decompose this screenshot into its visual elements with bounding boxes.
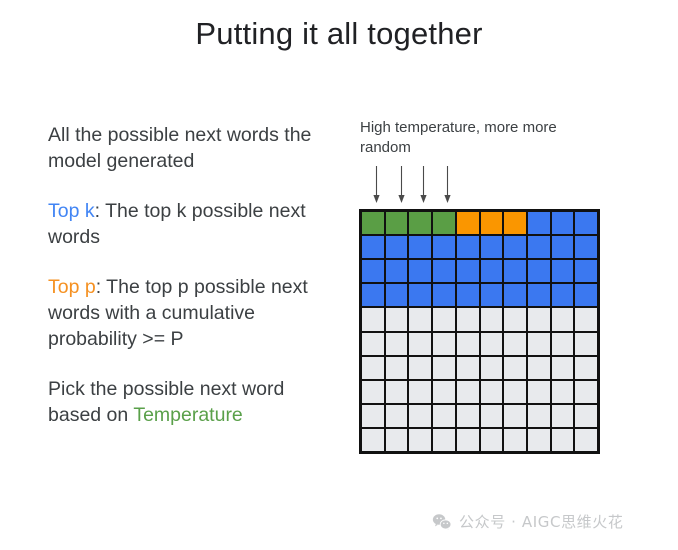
grid-cell [386, 236, 408, 258]
grid-cell [433, 405, 455, 427]
grid-cell [552, 236, 574, 258]
grid-cell [433, 212, 455, 234]
grid-cell [386, 405, 408, 427]
paragraph-top-k: Top k: The top k possible next words [48, 198, 333, 250]
grid-cell [362, 260, 384, 282]
grid-cell [504, 357, 526, 379]
grid-cell [575, 236, 597, 258]
grid-cell [481, 236, 503, 258]
grid-cell [457, 429, 479, 451]
grid-cell [362, 284, 384, 306]
grid-cell [481, 284, 503, 306]
grid-cell [481, 405, 503, 427]
grid-cell [575, 429, 597, 451]
grid-cell [409, 284, 431, 306]
grid-cell [575, 357, 597, 379]
grid-cell [433, 381, 455, 403]
grid-cell [481, 308, 503, 330]
grid-cell [433, 308, 455, 330]
paragraph-temperature: Pick the possible next word based on Tem… [48, 376, 333, 428]
grid-cell [386, 308, 408, 330]
grid-cell [409, 212, 431, 234]
grid-cell [552, 429, 574, 451]
grid-cell [481, 212, 503, 234]
grid-cell [386, 357, 408, 379]
grid-cell [386, 429, 408, 451]
grid-cell [362, 308, 384, 330]
grid-cell [528, 260, 550, 282]
grid-cell [504, 381, 526, 403]
grid-cell [504, 212, 526, 234]
grid-cell [386, 333, 408, 355]
arrow-group [360, 166, 470, 206]
grid-cell [552, 284, 574, 306]
grid-cell [528, 405, 550, 427]
grid-cell [433, 236, 455, 258]
grid-cell [386, 381, 408, 403]
grid-cell [457, 381, 479, 403]
grid-cell [575, 381, 597, 403]
grid-cell [433, 260, 455, 282]
arrow-down-icon [372, 166, 381, 204]
grid-cell [457, 308, 479, 330]
grid-cell [362, 429, 384, 451]
grid-cell [552, 357, 574, 379]
grid-cell [457, 236, 479, 258]
token-probability-grid [359, 209, 600, 454]
grid-cell [504, 405, 526, 427]
grid-cell [409, 308, 431, 330]
grid-cell [528, 308, 550, 330]
temperature-caption-block: High temperature, more more random [360, 118, 620, 158]
grid-cell [552, 333, 574, 355]
grid-cell [504, 260, 526, 282]
grid-cell [528, 333, 550, 355]
grid-cell [528, 236, 550, 258]
grid-cell [504, 284, 526, 306]
arrow-down-icon [419, 166, 428, 204]
temperature-keyword: Temperature [133, 404, 242, 426]
explanation-text-block: All the possible next words the model ge… [48, 122, 333, 428]
grid-cell [409, 357, 431, 379]
grid-cell [362, 212, 384, 234]
grid-cell [362, 333, 384, 355]
grid-cell [552, 212, 574, 234]
grid-cell [457, 260, 479, 282]
grid-cell [504, 236, 526, 258]
grid-cell [528, 284, 550, 306]
grid-cell [575, 260, 597, 282]
grid-cell [409, 333, 431, 355]
grid-cell [481, 429, 503, 451]
grid-cell [552, 308, 574, 330]
grid-cell [575, 212, 597, 234]
grid-cell [575, 405, 597, 427]
grid-cell [575, 333, 597, 355]
grid-cell [481, 357, 503, 379]
grid-cell [386, 284, 408, 306]
grid-cell [409, 429, 431, 451]
grid-cell [552, 405, 574, 427]
top-k-keyword: Top k [48, 200, 95, 222]
arrow-down-icon [443, 166, 452, 204]
watermark-text: 公众号 · AIGC思维火花 [459, 511, 624, 532]
grid-cell [457, 284, 479, 306]
grid-cell [386, 260, 408, 282]
grid-cell [552, 260, 574, 282]
grid-cell [457, 405, 479, 427]
high-temperature-caption: High temperature, more more random [360, 118, 585, 158]
wechat-icon [432, 513, 452, 531]
grid-cell [362, 236, 384, 258]
grid-cell [457, 357, 479, 379]
paragraph-all-possible-words: All the possible next words the model ge… [48, 122, 333, 174]
grid-cell [409, 236, 431, 258]
grid-cell [504, 308, 526, 330]
grid-cell [481, 333, 503, 355]
grid-cell [528, 357, 550, 379]
grid-cell [481, 260, 503, 282]
paragraph-1-text: All the possible next words the model ge… [48, 124, 311, 172]
grid-cell [457, 212, 479, 234]
grid-cell [386, 212, 408, 234]
grid-cell [409, 260, 431, 282]
grid-cell [362, 405, 384, 427]
grid-cell [457, 333, 479, 355]
grid-cell [528, 429, 550, 451]
grid-cell [552, 381, 574, 403]
grid-cell [433, 429, 455, 451]
paragraph-top-p: Top p: The top p possible next words wit… [48, 274, 333, 352]
grid-cell [362, 381, 384, 403]
grid-cell [409, 381, 431, 403]
grid-cell [433, 333, 455, 355]
top-p-keyword: Top p [48, 276, 96, 298]
arrow-down-icon [397, 166, 406, 204]
page-title: Putting it all together [0, 16, 678, 52]
watermark: 公众号 · AIGC思维火花 [432, 511, 624, 532]
grid-cell [433, 357, 455, 379]
grid-cell [409, 405, 431, 427]
grid-cell [433, 284, 455, 306]
grid-cell [504, 429, 526, 451]
grid-cell [575, 308, 597, 330]
grid-cell [528, 381, 550, 403]
grid-cell [481, 381, 503, 403]
grid-cell [504, 333, 526, 355]
grid-cell [575, 284, 597, 306]
grid-cell [362, 357, 384, 379]
grid-cell [528, 212, 550, 234]
